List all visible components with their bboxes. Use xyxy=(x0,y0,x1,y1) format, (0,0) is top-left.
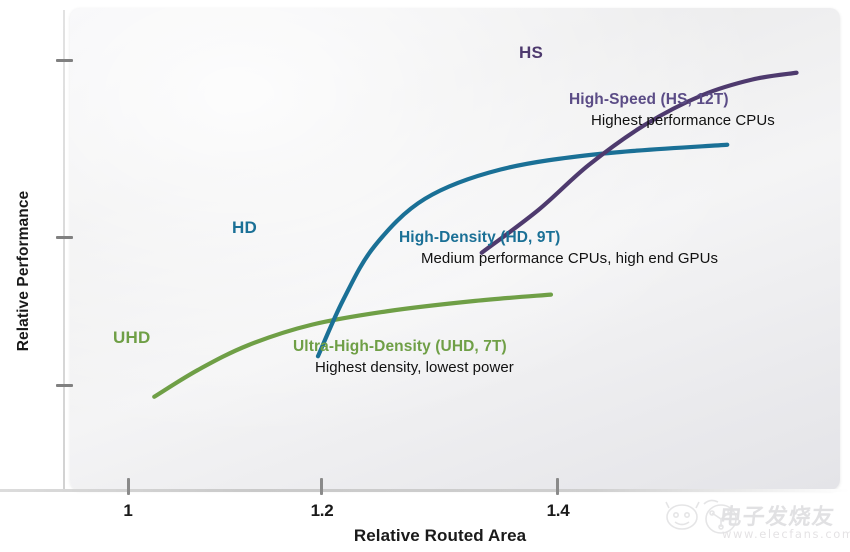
annotation-high-speed: High-Speed (HS, 12T) Highest performance… xyxy=(569,89,775,131)
x-axis-tick xyxy=(127,478,130,495)
y-axis-tick xyxy=(56,59,73,62)
annotation-high-density: High-Density (HD, 9T) Medium performance… xyxy=(399,227,718,269)
chart-figure: 1 1.2 1.4 Relative Performance Relative … xyxy=(0,0,850,551)
x-axis-tick-label-3: 1.4 xyxy=(547,501,570,521)
x-axis-tick xyxy=(320,478,323,495)
annotation-ultra-high-density: Ultra-High-Density (UHD, 7T) Highest den… xyxy=(293,336,514,378)
series-tag-uhd: UHD xyxy=(113,328,150,348)
y-axis-tick xyxy=(56,384,73,387)
annotation-uhd-title: Ultra-High-Density (UHD, 7T) xyxy=(293,336,514,357)
series-tag-hd: HD xyxy=(232,218,257,238)
x-axis-tick xyxy=(556,478,559,495)
annotation-hd-title: High-Density (HD, 9T) xyxy=(399,227,718,248)
y-axis-line xyxy=(63,10,65,490)
y-axis-tick xyxy=(56,236,73,239)
annotation-hs-subtitle: Highest performance CPUs xyxy=(569,110,775,131)
annotation-uhd-subtitle: Highest density, lowest power xyxy=(293,357,514,378)
annotation-hd-subtitle: Medium performance CPUs, high end GPUs xyxy=(399,248,718,269)
x-axis-title: Relative Routed Area xyxy=(0,526,850,546)
x-axis-tick-label-1: 1 xyxy=(123,501,132,521)
x-axis-tick-label-2: 1.2 xyxy=(311,501,334,521)
annotation-hs-title: High-Speed (HS, 12T) xyxy=(569,89,775,110)
series-tag-hs: HS xyxy=(519,43,543,63)
y-axis-title: Relative Performance xyxy=(15,171,33,371)
